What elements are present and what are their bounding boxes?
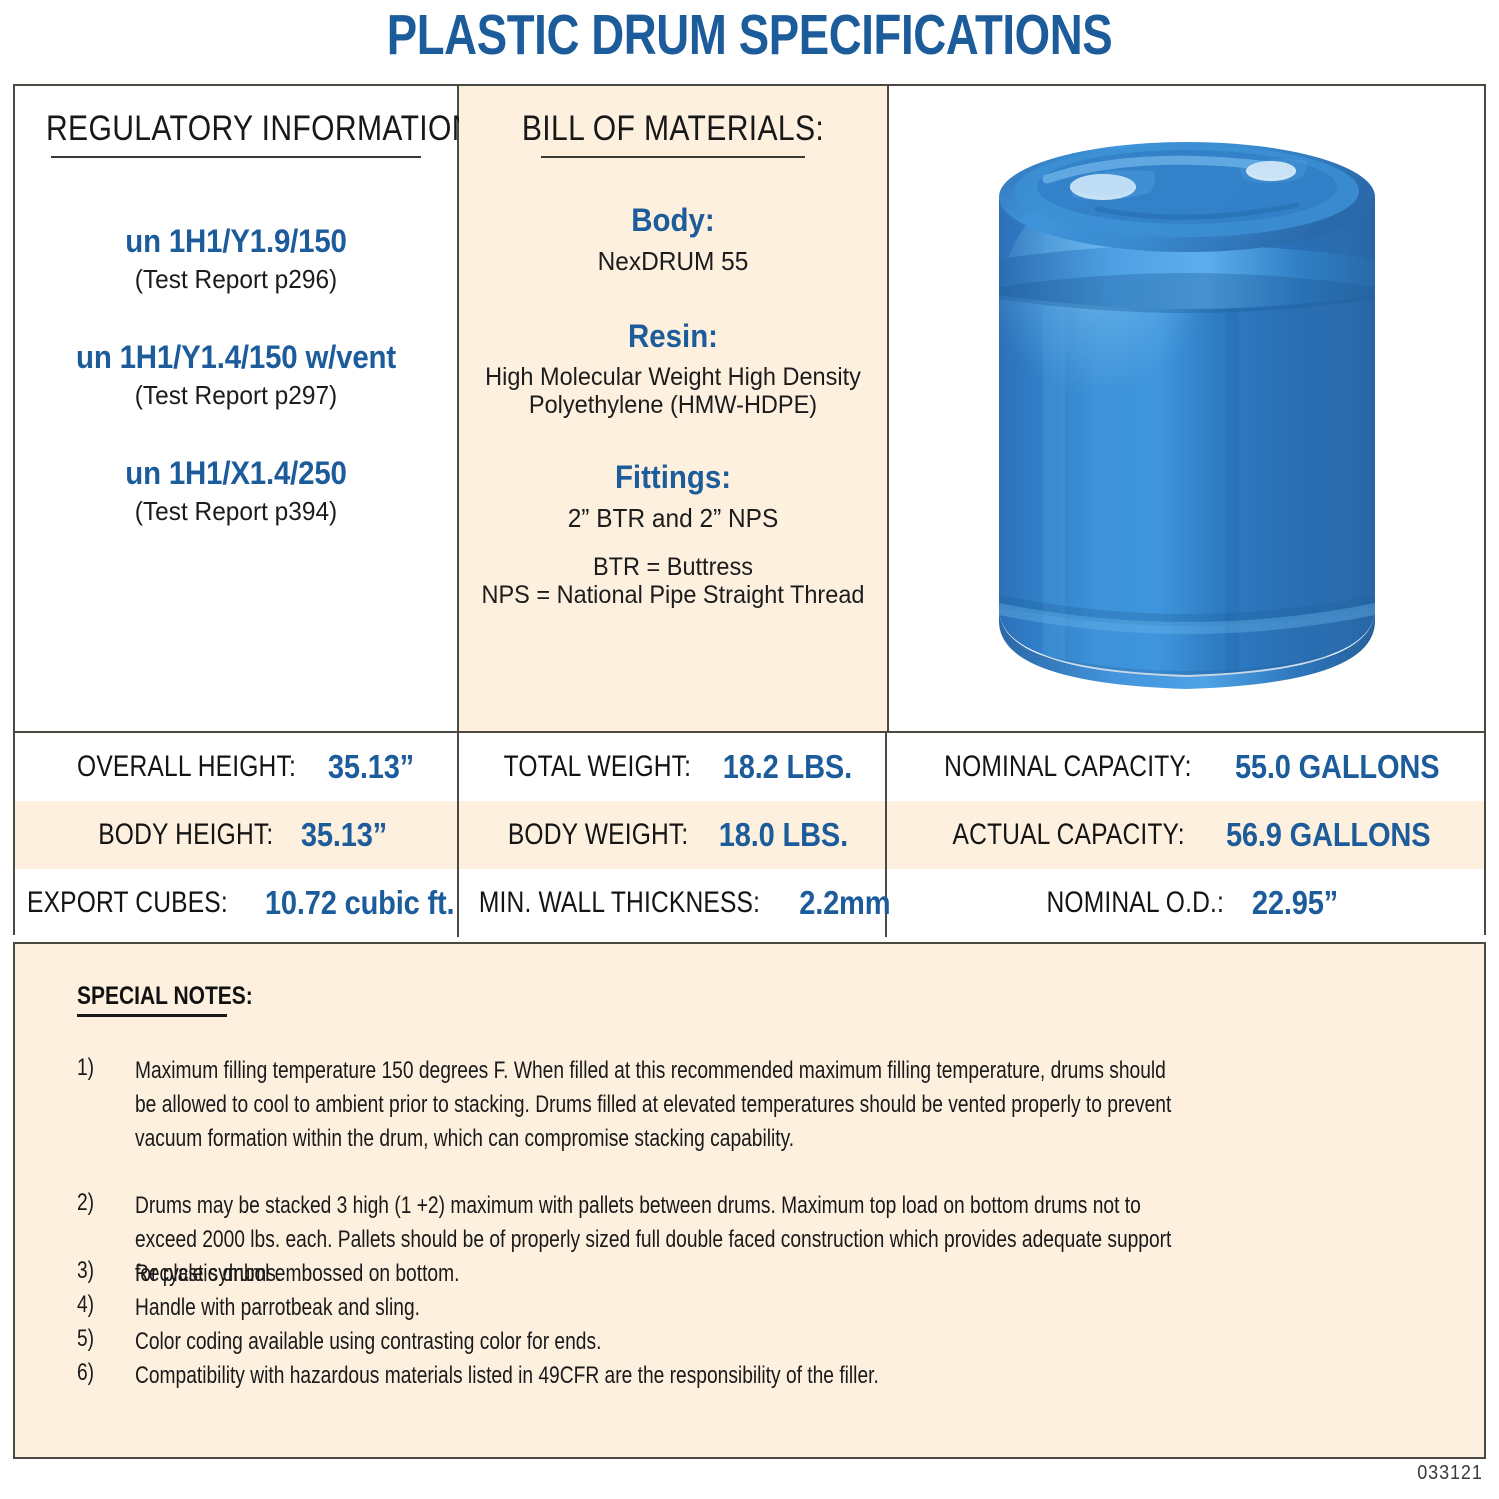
note-text: Compatibility with hazardous materials l… xyxy=(135,1359,1185,1393)
spec-label: EXPORT CUBES: xyxy=(27,886,228,920)
un-code: un 1H1/X1.4/250 xyxy=(33,455,440,492)
body-label: Body: xyxy=(476,202,870,239)
note-number: 5) xyxy=(77,1325,123,1359)
spec-label: BODY WEIGHT: xyxy=(507,818,688,852)
regulatory-entry: un 1H1/Y1.4/150 w/vent (Test Report p297… xyxy=(15,339,457,411)
spec-cell: NOMINAL O.D.: 22.95” xyxy=(887,869,1484,937)
note-text: Maximum filling temperature 150 degrees … xyxy=(135,1054,1185,1156)
note-item: 1) Maximum filling temperature 150 degre… xyxy=(77,1054,1447,1156)
spec-row: EXPORT CUBES: 10.72 cubic ft. MIN. WALL … xyxy=(15,869,1484,937)
spec-cell: MIN. WALL THICKNESS: 2.2mm xyxy=(457,869,887,937)
fittings-note-btr: BTR = Buttress xyxy=(472,553,874,581)
test-report: (Test Report p394) xyxy=(28,496,443,527)
page-title: PLASTIC DRUM SPECIFICATIONS xyxy=(150,2,1349,68)
special-notes-underline xyxy=(77,1014,227,1017)
note-text: Recycle symbol embossed on bottom. xyxy=(135,1257,1185,1291)
spec-cell: EXPORT CUBES: 10.72 cubic ft. xyxy=(15,869,457,937)
note-text: Handle with parrotbeak and sling. xyxy=(135,1291,1185,1325)
note-number: 4) xyxy=(77,1291,123,1325)
note-item: 5) Color coding available using contrast… xyxy=(77,1325,1447,1359)
bill-of-materials-panel: BILL OF MATERIALS: Body: NexDRUM 55 Resi… xyxy=(459,86,887,731)
bom-heading: BILL OF MATERIALS: xyxy=(489,109,857,149)
spec-value: 18.0 LBS. xyxy=(719,816,848,854)
spec-value: 2.2mm xyxy=(799,884,890,922)
regulatory-information-panel: REGULATORY INFORMATION: un 1H1/Y1.9/150 … xyxy=(15,86,457,731)
document-code: 033121 xyxy=(1418,1462,1483,1485)
spec-label: OVERALL HEIGHT: xyxy=(77,750,296,784)
spec-sheet: PLASTIC DRUM SPECIFICATIONS REGULATORY I… xyxy=(0,0,1499,1499)
resin-value-line-1: High Molecular Weight High Density xyxy=(472,363,874,391)
resin-label: Resin: xyxy=(476,318,870,355)
spec-value: 56.9 GALLONS xyxy=(1226,816,1430,854)
note-text: Color coding available using contrasting… xyxy=(135,1325,1185,1359)
regulatory-entry: un 1H1/X1.4/250 (Test Report p394) xyxy=(15,455,457,527)
spec-row: OVERALL HEIGHT: 35.13” TOTAL WEIGHT: 18.… xyxy=(15,733,1484,801)
un-code: un 1H1/Y1.9/150 xyxy=(33,223,440,260)
spec-value: 35.13” xyxy=(327,748,413,786)
spec-row: BODY HEIGHT: 35.13” BODY WEIGHT: 18.0 LB… xyxy=(15,801,1484,869)
test-report: (Test Report p296) xyxy=(28,264,443,295)
spec-label: MIN. WALL THICKNESS: xyxy=(479,886,760,920)
fittings-value: 2” BTR and 2” NPS xyxy=(472,504,874,533)
test-report: (Test Report p297) xyxy=(28,380,443,411)
fittings-note-nps: NPS = National Pipe Straight Thread xyxy=(472,581,874,609)
regulatory-entry: un 1H1/Y1.9/150 (Test Report p296) xyxy=(15,223,457,295)
note-number: 1) xyxy=(77,1054,123,1156)
un-code: un 1H1/Y1.4/150 w/vent xyxy=(33,339,440,376)
spec-cell: OVERALL HEIGHT: 35.13” xyxy=(15,733,457,801)
spec-label: ACTUAL CAPACITY: xyxy=(952,818,1184,852)
spec-value: 18.2 LBS. xyxy=(723,748,852,786)
note-item: 6) Compatibility with hazardous material… xyxy=(77,1359,1447,1393)
spec-cell: NOMINAL CAPACITY: 55.0 GALLONS xyxy=(887,733,1484,801)
regulatory-heading: REGULATORY INFORMATION: xyxy=(46,109,426,149)
spec-value: 22.95” xyxy=(1252,884,1338,922)
body-value: NexDRUM 55 xyxy=(472,247,874,276)
spec-label: NOMINAL CAPACITY: xyxy=(945,750,1192,784)
spec-value: 10.72 cubic ft. xyxy=(265,884,454,922)
spec-table: REGULATORY INFORMATION: un 1H1/Y1.9/150 … xyxy=(13,84,1486,935)
spec-cell: TOTAL WEIGHT: 18.2 LBS. xyxy=(457,733,887,801)
spec-cell: ACTUAL CAPACITY: 56.9 GALLONS xyxy=(887,801,1484,869)
note-item: 3) Recycle symbol embossed on bottom. xyxy=(77,1257,1447,1291)
spec-label: BODY HEIGHT: xyxy=(98,818,273,852)
spec-label: NOMINAL O.D.: xyxy=(1047,886,1225,920)
spec-cell: BODY HEIGHT: 35.13” xyxy=(15,801,457,869)
spec-label: TOTAL WEIGHT: xyxy=(504,750,692,784)
special-notes-panel: SPECIAL NOTES: 1) Maximum filling temper… xyxy=(13,942,1486,1459)
note-number: 3) xyxy=(77,1257,123,1291)
spec-cell: BODY WEIGHT: 18.0 LBS. xyxy=(457,801,887,869)
resin-value-line-2: Polyethylene (HMW-HDPE) xyxy=(472,391,874,419)
spec-value: 55.0 GALLONS xyxy=(1235,748,1439,786)
note-item: 4) Handle with parrotbeak and sling. xyxy=(77,1291,1447,1325)
special-notes-heading: SPECIAL NOTES: xyxy=(77,982,253,1011)
plastic-drum-illustration xyxy=(977,109,1397,709)
note-number: 6) xyxy=(77,1359,123,1393)
spec-value: 35.13” xyxy=(301,816,387,854)
product-image-panel xyxy=(889,86,1484,731)
fittings-label: Fittings: xyxy=(476,459,870,496)
